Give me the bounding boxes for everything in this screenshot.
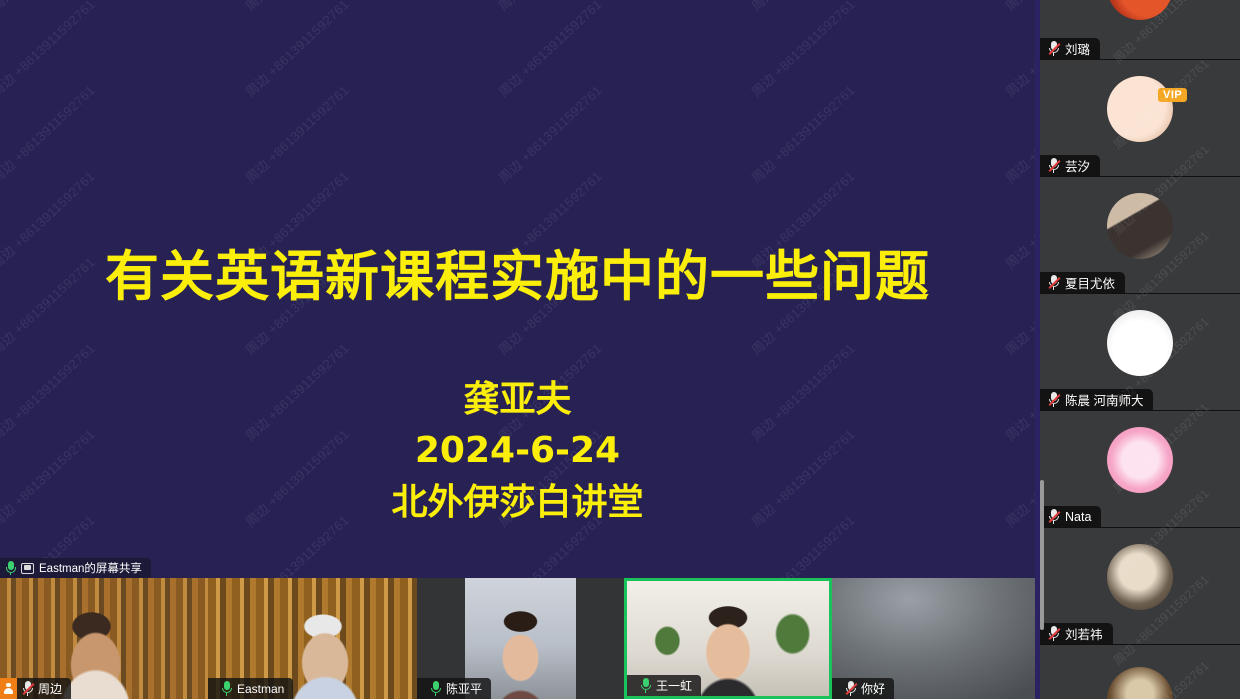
microphone-icon xyxy=(430,681,441,696)
avatar xyxy=(1107,667,1173,699)
screen-share-icon xyxy=(21,563,34,574)
participant-tile-4[interactable]: 陈晨 河南师大 xyxy=(1040,294,1240,411)
participant-name-badge: 你好 xyxy=(832,678,894,699)
participant-name: 刘璐 xyxy=(1065,39,1090,58)
participant-name: Nata xyxy=(1065,510,1091,524)
video-tile-4[interactable]: 王一虹 xyxy=(624,578,832,699)
microphone-icon xyxy=(1048,275,1059,290)
avatar xyxy=(1107,427,1173,493)
participant-tile-5[interactable]: Nata xyxy=(1040,411,1240,528)
participant-tile-6[interactable]: 刘若祎 xyxy=(1040,528,1240,645)
screen-share-badge: Eastman的屏幕共享 xyxy=(0,558,151,578)
participant-name-badge: 王一虹 xyxy=(627,675,701,696)
avatar xyxy=(1107,193,1173,259)
slide-date: 2024-6-24 xyxy=(415,425,620,476)
participant-tile-1[interactable]: 刘璐 xyxy=(1040,0,1240,60)
participant-name-badge: 陈晨 河南师大 xyxy=(1040,389,1153,410)
participant-name: 你好 xyxy=(861,680,885,697)
avatar xyxy=(1107,76,1173,142)
screen-share-label: Eastman的屏幕共享 xyxy=(39,560,142,576)
microphone-icon xyxy=(1048,158,1059,173)
vip-badge: VIP xyxy=(1158,88,1187,102)
participant-name-badge: 芸汐 xyxy=(1040,155,1100,176)
microphone-icon xyxy=(1048,392,1059,407)
participant-name: Eastman xyxy=(237,682,284,696)
participant-filmstrip: 周边Eastman陈亚平王一虹你好 xyxy=(0,578,1035,699)
participant-name-badge: 陈亚平 xyxy=(417,678,491,699)
participant-name: 王一虹 xyxy=(656,677,692,694)
participant-tile-2[interactable]: VIP芸汐 xyxy=(1040,60,1240,177)
slide-content: 有关英语新课程实施中的一些问题 龚亚夫 2024-6-24 北外伊莎白讲堂 xyxy=(0,0,1035,578)
participant-name-badge: Eastman xyxy=(208,678,293,699)
participant-name-badge: 刘璐 xyxy=(1040,38,1100,59)
participant-name: 周边 xyxy=(38,680,62,697)
participant-name-badge: 夏目尤依 xyxy=(1040,272,1125,293)
sidebar-scrollbar[interactable] xyxy=(1040,480,1044,630)
video-tile-1[interactable]: 周边 xyxy=(0,578,208,699)
microphone-icon xyxy=(1048,626,1059,641)
main-stage: 周边 +8613911592761周边 +8613911592761周边 +86… xyxy=(0,0,1035,699)
slide-title: 有关英语新课程实施中的一些问题 xyxy=(105,248,930,306)
participant-name: 陈亚平 xyxy=(446,680,482,697)
avatar xyxy=(1107,310,1173,376)
microphone-icon xyxy=(221,681,232,696)
video-tile-2[interactable]: Eastman xyxy=(208,578,417,699)
microphone-icon xyxy=(22,681,33,696)
participant-name-badge: Nata xyxy=(1040,506,1101,527)
microphone-icon xyxy=(1048,509,1059,524)
participant-name: 夏目尤依 xyxy=(1065,273,1115,292)
participant-tile-7[interactable] xyxy=(1040,645,1240,699)
microphone-icon xyxy=(1048,41,1059,56)
microphone-icon xyxy=(5,561,16,576)
video-tile-5[interactable]: 你好 xyxy=(832,578,1035,699)
microphone-icon xyxy=(845,681,856,696)
participant-tile-3[interactable]: 夏目尤依 xyxy=(1040,177,1240,294)
slide-venue: 北外伊莎白讲堂 xyxy=(391,477,643,528)
participant-sidebar[interactable]: 周边 +8613911592761周边 +8613911592761周边 +86… xyxy=(1040,0,1240,699)
participant-name: 刘若祎 xyxy=(1065,624,1103,643)
shared-screen-slide[interactable]: 周边 +8613911592761周边 +8613911592761周边 +86… xyxy=(0,0,1035,578)
slide-presenter: 龚亚夫 xyxy=(463,374,571,425)
meeting-window: 周边 +8613911592761周边 +8613911592761周边 +86… xyxy=(0,0,1240,699)
avatar xyxy=(1107,0,1173,20)
participant-name: 芸汐 xyxy=(1065,156,1090,175)
participant-name: 陈晨 河南师大 xyxy=(1065,390,1143,409)
host-badge-icon xyxy=(0,678,17,699)
avatar xyxy=(1107,544,1173,610)
video-tile-3[interactable]: 陈亚平 xyxy=(417,578,624,699)
participant-name-badge: 刘若祎 xyxy=(1040,623,1113,644)
participant-name-badge: 周边 xyxy=(0,678,71,699)
microphone-icon xyxy=(640,678,651,693)
